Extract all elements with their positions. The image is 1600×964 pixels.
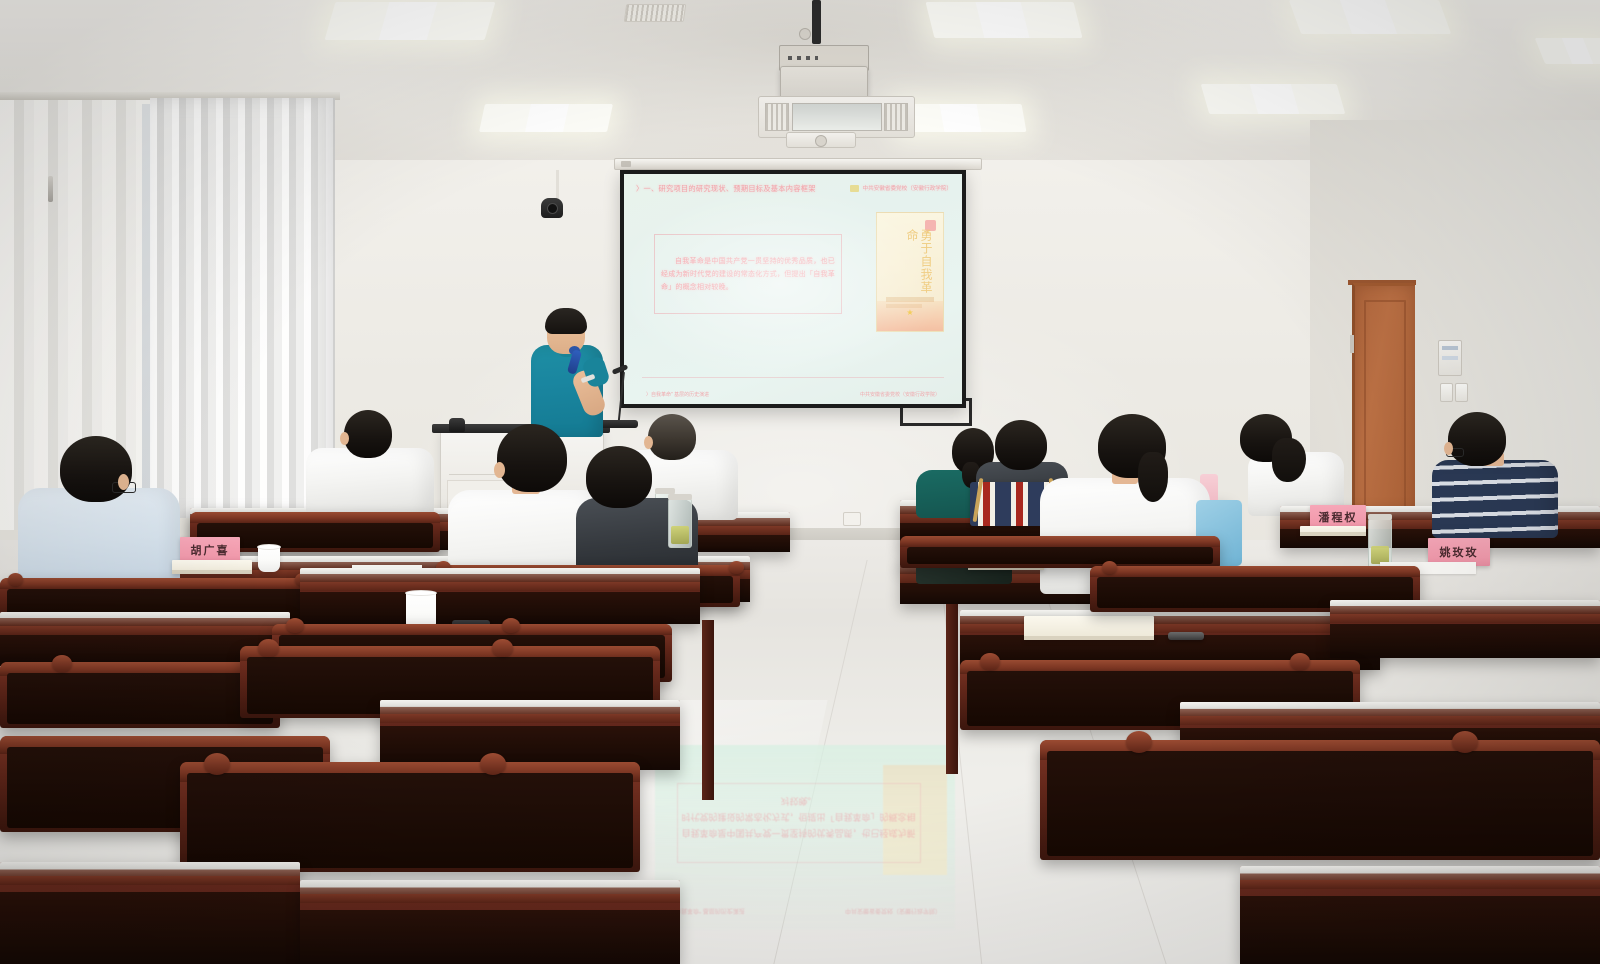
- book-calligraphy-text: 勇于自我革命: [889, 229, 933, 299]
- attendee-frs-head: [1448, 412, 1506, 466]
- door-inset-panel: [1364, 300, 1406, 538]
- presentation-slide: 〉一、研究项目的研究现状、预期目标及基本内容框架 中共安徽省委党校（安徽行政学院…: [632, 200, 954, 386]
- projector-vent-slots: [788, 56, 818, 60]
- attendee-cd-head: [586, 446, 652, 508]
- star-icon: ★: [906, 308, 913, 317]
- attendee-cr-head: [648, 414, 696, 460]
- slide-footer-right: 中共安徽省委党校（安徽行政学院）: [860, 391, 940, 398]
- reflection-footer-right: 中共安徽省委党校（安徽行政学院）: [845, 907, 941, 916]
- presenter-hair: [545, 308, 587, 334]
- reflection-body-text: 自我革命是中国共产党一贯坚持的优秀品质，也已经成为新时代党的建设的常态化方式，但…: [681, 793, 916, 841]
- desk-leg-1: [702, 620, 714, 800]
- slide-divider: [642, 377, 944, 378]
- wall-control-panel[interactable]: [1438, 340, 1462, 376]
- tea-bottle-3: [668, 498, 692, 548]
- sprinkler-head: [799, 28, 811, 40]
- wall-outlet-2: [843, 512, 861, 526]
- desk-leg-2: [946, 604, 958, 774]
- ceiling-light-panel-7: [1535, 38, 1600, 64]
- slide-body-text: 自我革命是中国共产党一贯坚持的优秀品质，也已经成为新时代党的建设的常态化方式，但…: [661, 255, 835, 294]
- attendee-bag-head: [995, 420, 1047, 470]
- namecard-text-1: 胡广喜: [191, 542, 230, 558]
- sprinkler-head-2: [815, 135, 827, 147]
- attendee-left-back-head: [344, 410, 392, 458]
- ceiling-light-panel-2: [479, 104, 613, 132]
- attendee-cw-head: [497, 424, 567, 492]
- slide-footer-left: 〉自我革命" 基层的历史演进: [646, 391, 709, 398]
- bench-row2-right: [900, 536, 1220, 568]
- bench-row5-center: [180, 762, 640, 872]
- ceiling-light-panel-1: [325, 2, 496, 40]
- slide-floor-reflection: 自我革命是中国共产党一贯坚持的优秀品质，也已经成为新时代党的建设的常态化方式，但…: [655, 745, 955, 930]
- desk-row5-left: [0, 862, 300, 964]
- door-handle-icon[interactable]: [48, 176, 53, 202]
- screen-canvas: 〉一、研究项目的研究现状、预期目标及基本内容框架 中共安徽省委党校（安徽行政学院…: [624, 174, 962, 404]
- camera-lens-icon: [547, 203, 558, 214]
- paper-cup-2: [258, 546, 280, 572]
- attendee-left-back-torso: [306, 448, 434, 516]
- door-hinge: [1350, 335, 1354, 353]
- lecture-hall-photo: 〉一、研究项目的研究现状、预期目标及基本内容框架 中共安徽省委党校（安徽行政学院…: [0, 0, 1600, 964]
- air-vent: [624, 4, 687, 22]
- light-switch-1[interactable]: [1440, 383, 1453, 402]
- desk-row4-center: [380, 700, 680, 770]
- slide-text-box: 自我革命是中国共产党一贯坚持的优秀品质，也已经成为新时代党的建设的常态化方式，但…: [654, 234, 842, 314]
- notebook-4: [1024, 616, 1154, 640]
- notebook-2: [1300, 526, 1366, 536]
- attendee-frs-torso: [1432, 460, 1558, 538]
- ceiling-light-panel-3: [926, 2, 1083, 38]
- ceiling-light-panel-5: [1201, 84, 1346, 114]
- slide-footer: 〉自我革命" 基层的历史演进 中共安徽省委党校（安徽行政学院）: [646, 391, 940, 398]
- tea-bottle-2: [1368, 518, 1392, 568]
- attendee-rp-ponytail: [1138, 452, 1168, 502]
- slide-book-cover-image: 勇于自我革命 ★: [876, 212, 944, 332]
- bench-row4-left: [0, 662, 280, 728]
- wall-camera-icon: [541, 198, 563, 218]
- screen-roller-housing: [614, 158, 982, 170]
- bench-row5-right: [1040, 740, 1600, 860]
- desk-row5-right: [1240, 866, 1600, 964]
- reflection-footer: 〉自我革命" 基层的历史演进 中共安徽省委党校（安徽行政学院）: [669, 907, 941, 916]
- slide-institution-logo: 中共安徽省委党校（安徽行政学院）: [850, 184, 952, 192]
- namecard-text-2: 潘程权: [1319, 509, 1358, 525]
- projector-mount-rod: [812, 0, 821, 44]
- podium-device: [449, 418, 465, 432]
- reflection-footer-left: 〉自我革命" 基层的历史演进: [669, 907, 745, 916]
- namecard-text-3: 姚玫玫: [1440, 544, 1479, 560]
- desk-row3-farright: [1330, 600, 1600, 658]
- desk-row3-center: [300, 568, 700, 624]
- logo-mark-icon: [850, 185, 859, 192]
- ceiling-light-panel-4: [898, 104, 1027, 132]
- slide-heading: 〉一、研究项目的研究现状、预期目标及基本内容框架: [636, 184, 866, 194]
- projection-screen: 〉一、研究项目的研究现状、预期目标及基本内容框架 中共安徽省委党校（安徽行政学院…: [620, 170, 966, 408]
- ceiling-light-panel-6: [1289, 0, 1451, 34]
- mic-base: [600, 420, 638, 428]
- camera-mount-stem: [556, 170, 559, 200]
- slide-logo-text: 中共安徽省委党校（安徽行政学院）: [862, 184, 952, 192]
- light-switch-2[interactable]: [1455, 383, 1468, 402]
- notebook-1: [172, 560, 252, 574]
- pen-object: [1168, 632, 1204, 640]
- desk-row5-center: [300, 880, 680, 964]
